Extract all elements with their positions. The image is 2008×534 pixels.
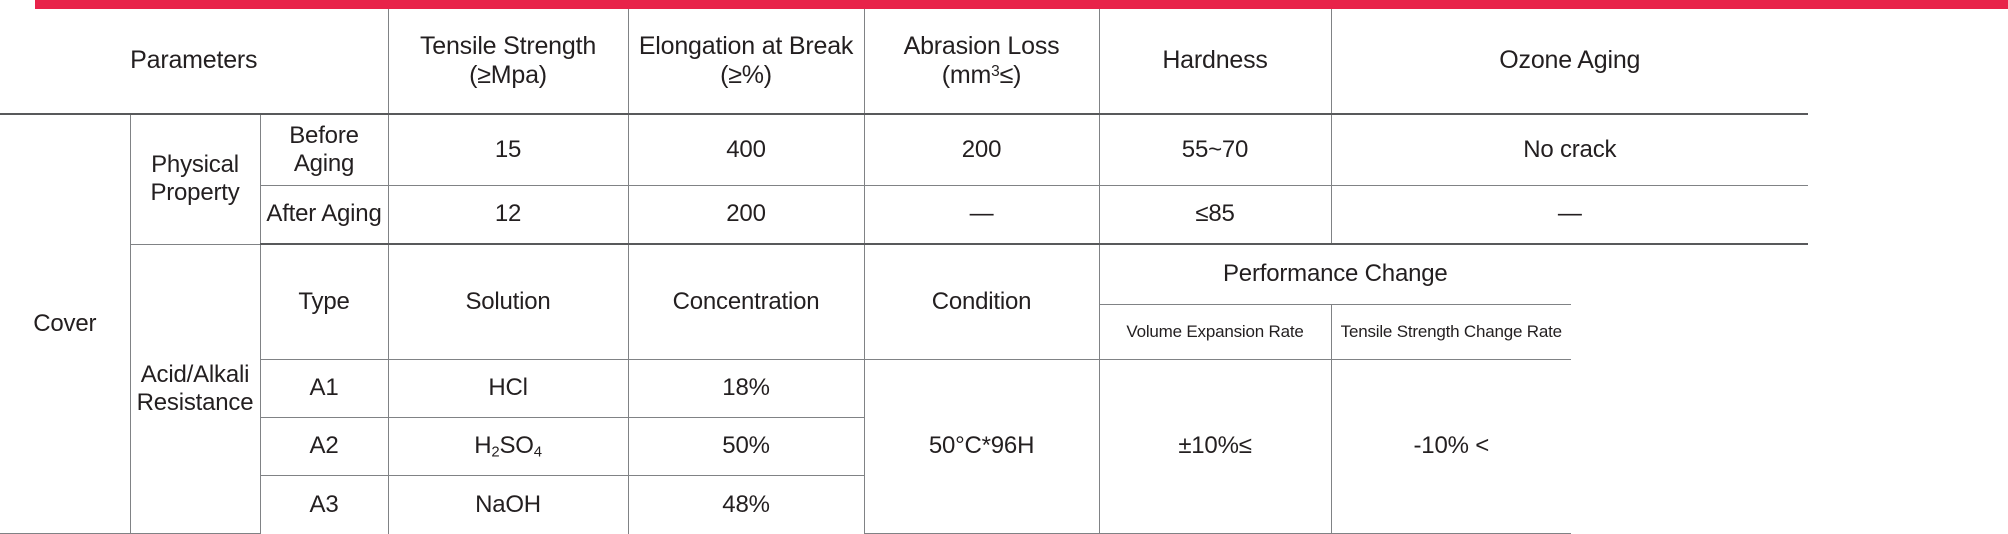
cell-merged-volume-expansion: ±10%≤ xyxy=(1099,359,1331,533)
header-ozone-aging: Ozone Aging xyxy=(1331,9,1808,114)
table-row-performance-change-header: Acid/Alkali Resistance Type Solution Con… xyxy=(0,244,2008,304)
cell-a3-concentration: 48% xyxy=(628,476,864,534)
cell-after-aging-ozone: — xyxy=(1331,185,1808,244)
cell-after-aging-abrasion: — xyxy=(864,185,1099,244)
header-abrasion-loss: Abrasion Loss (mm3≤) xyxy=(864,9,1099,114)
subheader-type: Type xyxy=(260,244,388,359)
table-header-row: Parameters Tensile Strength (≥Mpa) Elong… xyxy=(0,9,2008,114)
row-label-after-aging: After Aging xyxy=(260,185,388,244)
cell-a2-type: A2 xyxy=(260,417,388,475)
cell-before-aging-tensile: 15 xyxy=(388,114,628,185)
spec-table-page: Parameters Tensile Strength (≥Mpa) Elong… xyxy=(0,0,2008,534)
header-hardness: Hardness xyxy=(1099,9,1331,114)
formula-h: H xyxy=(474,432,491,459)
header-parameters: Parameters xyxy=(0,9,388,114)
subheader-condition: Condition xyxy=(864,244,1099,359)
cell-before-aging-elongation: 400 xyxy=(628,114,864,185)
cell-before-aging-ozone: No crack xyxy=(1331,114,1808,185)
table-row-a1: A1 HCl 18% 50°C*96H ±10%≤ -10% < xyxy=(0,359,2008,417)
header-tensile-strength: Tensile Strength (≥Mpa) xyxy=(388,9,628,114)
cell-a2-solution: H2SO4 xyxy=(388,417,628,475)
specification-table: Parameters Tensile Strength (≥Mpa) Elong… xyxy=(0,9,2008,534)
cell-a1-type: A1 xyxy=(260,359,388,417)
cell-a1-solution: HCl xyxy=(388,359,628,417)
cell-a2-solution-formula: H2SO4 xyxy=(474,432,542,459)
row-label-acid-alkali-resistance: Acid/Alkali Resistance xyxy=(130,244,260,533)
header-tensile-strength-line2: (≥Mpa) xyxy=(469,61,547,89)
header-abrasion-unit-close: ≤) xyxy=(1000,61,1022,89)
table-row-after-aging: After Aging 12 200 — ≤85 — xyxy=(0,185,2008,244)
subheader-concentration: Concentration xyxy=(628,244,864,359)
cell-merged-tensile-change: -10% < xyxy=(1331,359,1571,533)
header-abrasion-line1: Abrasion Loss xyxy=(904,32,1060,60)
cell-after-aging-elongation: 200 xyxy=(628,185,864,244)
subheader-solution: Solution xyxy=(388,244,628,359)
row-label-physical-property: Physical Property xyxy=(130,114,260,244)
cell-a2-concentration: 50% xyxy=(628,417,864,475)
row-label-cover: Cover xyxy=(0,114,130,533)
formula-o-subscript: 4 xyxy=(534,444,542,460)
cell-a1-concentration: 18% xyxy=(628,359,864,417)
accent-rule xyxy=(35,0,2008,9)
header-elongation-line2: (≥%) xyxy=(720,61,772,89)
formula-so: SO xyxy=(499,432,533,459)
cell-before-aging-abrasion: 200 xyxy=(864,114,1099,185)
subheader-performance-change: Performance Change xyxy=(1099,244,1571,304)
row-label-before-aging: Before Aging xyxy=(260,114,388,185)
header-abrasion-line2: (mm3≤) xyxy=(942,61,1021,89)
cell-before-aging-hardness: 55~70 xyxy=(1099,114,1331,185)
cell-a3-solution: NaOH xyxy=(388,476,628,534)
subheader-tensile-strength-change-rate: Tensile Strength Change Rate xyxy=(1331,304,1571,359)
header-elongation-line1: Elongation at Break xyxy=(639,32,853,60)
cell-merged-condition: 50°C*96H xyxy=(864,359,1099,533)
subheader-volume-expansion-rate: Volume Expansion Rate xyxy=(1099,304,1331,359)
table-row-before-aging: Cover Physical Property Before Aging 15 … xyxy=(0,114,2008,185)
cell-a3-type: A3 xyxy=(260,476,388,534)
header-tensile-strength-line1: Tensile Strength xyxy=(420,32,596,60)
cell-after-aging-tensile: 12 xyxy=(388,185,628,244)
cell-after-aging-hardness: ≤85 xyxy=(1099,185,1331,244)
header-abrasion-unit-open: (mm xyxy=(942,61,991,89)
header-elongation-at-break: Elongation at Break (≥%) xyxy=(628,9,864,114)
header-abrasion-unit-exponent: 3 xyxy=(991,63,999,80)
